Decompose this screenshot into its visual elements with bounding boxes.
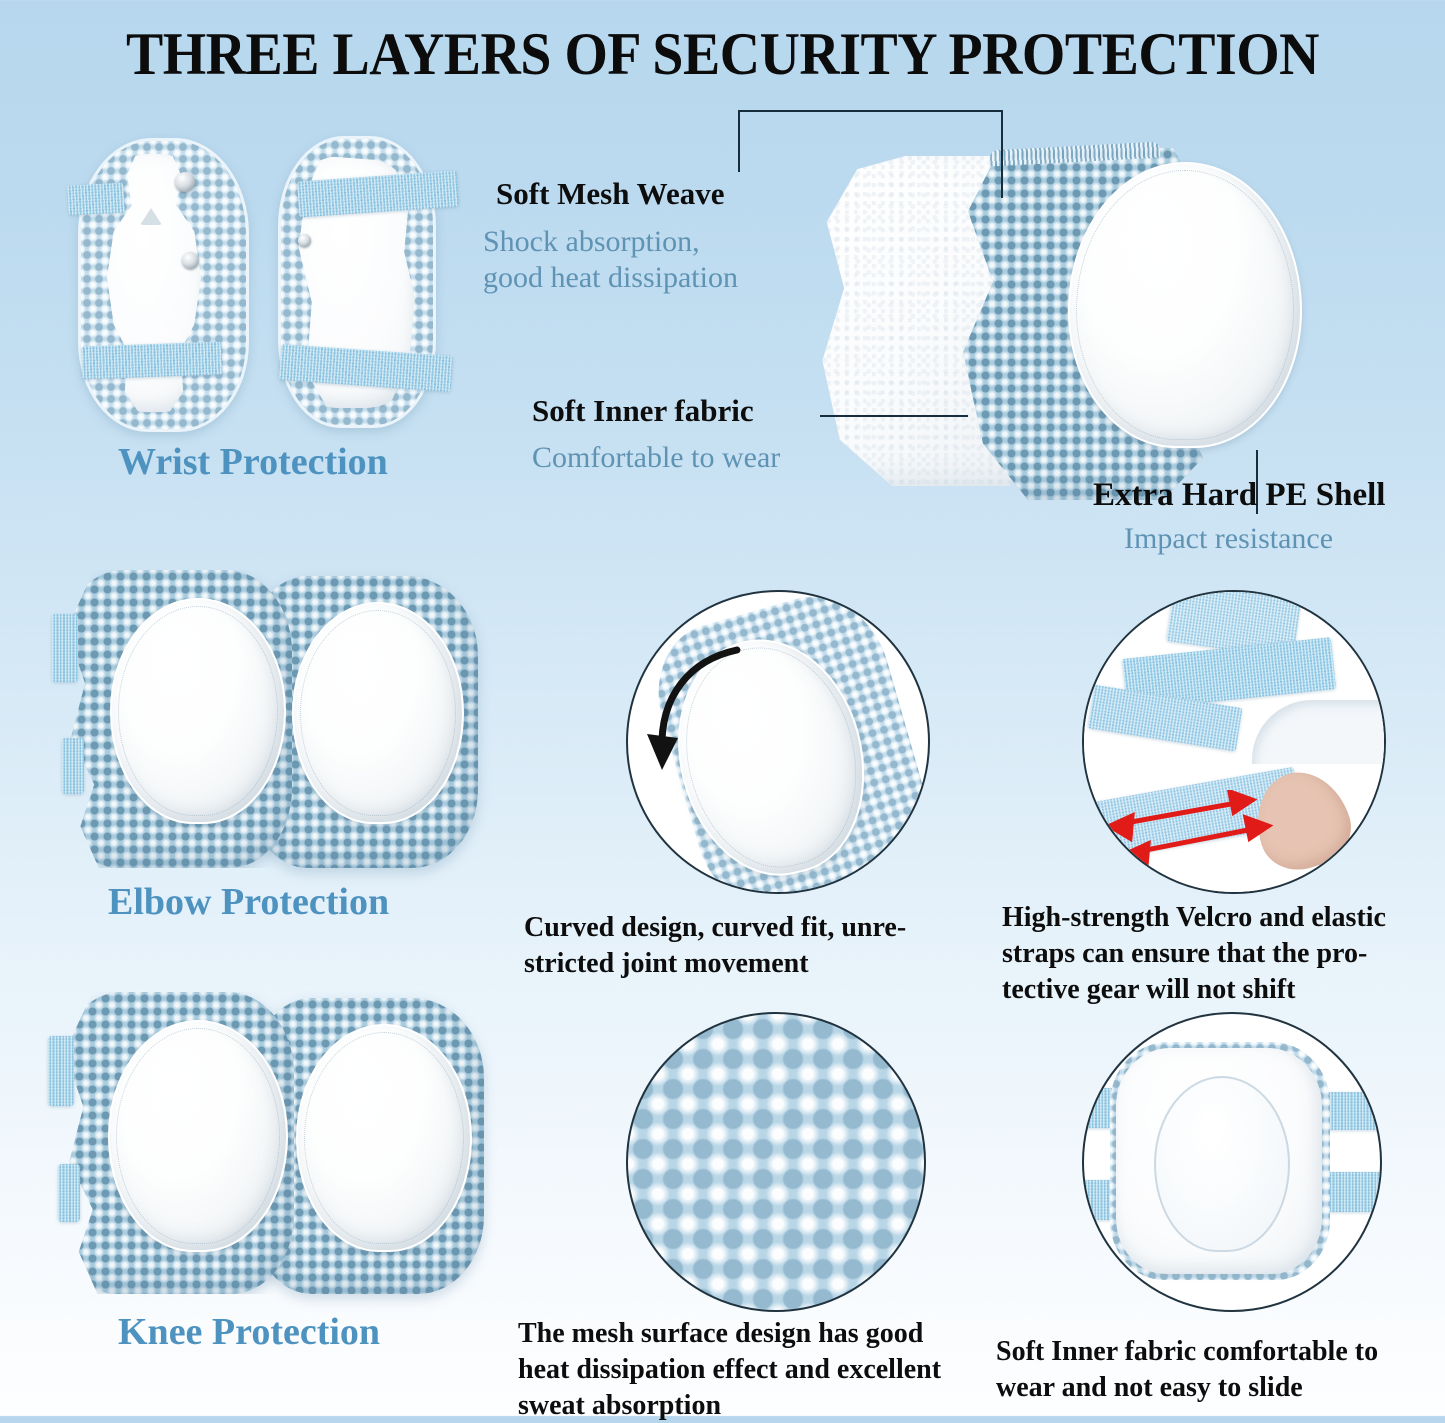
callout-inner-line1: Comfortable to wear (532, 440, 780, 475)
feature-mesh-caption-line1: The mesh surface design has good (518, 1316, 923, 1351)
exploded-layers-image (818, 148, 1308, 513)
callout-mesh-line1: Shock absorption, (483, 224, 700, 259)
feature-velcro-caption-line1: High-strength Velcro and elastic (1002, 900, 1386, 935)
infographic-canvas: THREE LAYERS OF SECURITY PROTECTION (0, 0, 1445, 1416)
feature-mesh-caption-line2: heat dissipation effect and excellent (518, 1352, 941, 1387)
leader-inner-fabric (820, 415, 968, 417)
callout-inner-heading: Soft Inner fabric (532, 393, 754, 429)
callout-shell-heading: Extra Hard PE Shell (1093, 477, 1385, 515)
feature-curved-caption-line2: stricted joint movement (524, 946, 809, 981)
layer-extra-hard-pe-shell (1068, 162, 1302, 448)
page-title: THREE LAYERS OF SECURITY PROTECTION (51, 20, 1395, 89)
wrist-rivet-bottom (182, 252, 199, 269)
wrist-rivet-top (175, 172, 195, 192)
feature-velcro-caption-line3: tective gear will not shift (1002, 972, 1295, 1007)
knee-protection-image (48, 986, 488, 1316)
feature-curved-caption-line1: Curved design, curved fit, unre- (524, 910, 906, 945)
feature-inner-fabric-photo (1082, 1012, 1382, 1312)
elbow-protection-label: Elbow Protection (108, 880, 389, 924)
elbow-protection-image (52, 562, 482, 892)
feature-mesh-surface-photo (626, 1012, 926, 1312)
feature-inner-caption-line1: Soft Inner fabric comfortable to (996, 1334, 1378, 1369)
callout-mesh-line2: good heat dissipation (483, 260, 738, 295)
stretch-arrows-icon (1092, 790, 1282, 876)
callout-shell-line1: Impact resistance (1124, 521, 1333, 556)
callout-mesh-heading: Soft Mesh Weave (496, 176, 724, 212)
leader-mesh-vertical-right (1001, 110, 1003, 198)
leader-mesh-vertical-left (738, 110, 740, 172)
feature-velcro-caption-line2: straps can ensure that the pro- (1002, 936, 1367, 971)
knee-protection-label: Knee Protection (118, 1310, 380, 1354)
feature-velcro-photo (1082, 590, 1386, 894)
feature-mesh-caption-line3: sweat absorption (518, 1388, 721, 1423)
leader-mesh-horizontal (738, 110, 1003, 112)
wrist-protection-label: Wrist Protection (118, 440, 388, 484)
wrist-protection-image (62, 128, 462, 438)
feature-curved-design-photo (626, 590, 930, 894)
rotation-arrow-icon (642, 638, 752, 788)
feature-inner-caption-line2: wear and not easy to slide (996, 1370, 1303, 1405)
